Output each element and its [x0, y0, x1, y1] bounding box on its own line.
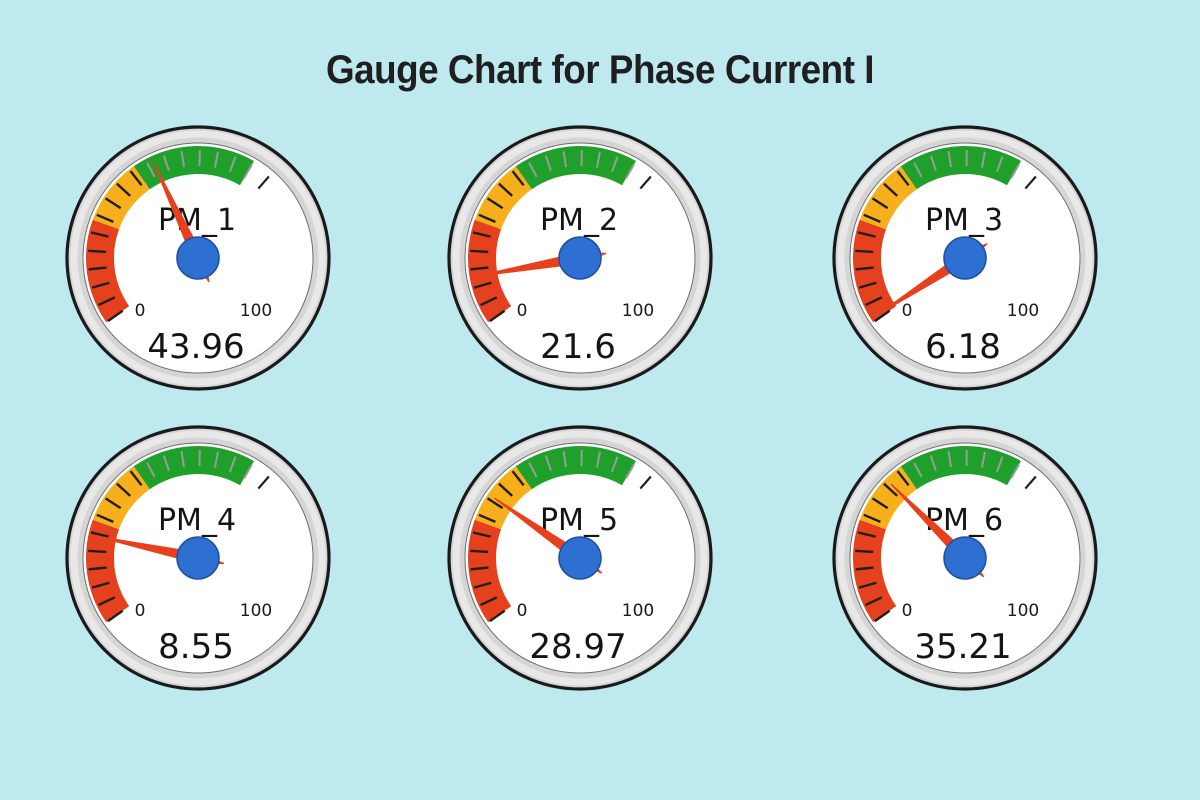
- gauge-name-label: PM_2: [540, 203, 618, 238]
- gauge-max-label: 100: [240, 301, 272, 321]
- gauge-value-label: 28.97: [529, 627, 626, 667]
- gauge-pm5[interactable]: 0100PM_528.97: [442, 420, 718, 696]
- gauge-tick: [88, 551, 106, 552]
- gauge-hub: [177, 537, 219, 579]
- gauge-max-label: 100: [1007, 301, 1039, 321]
- gauge-hub: [944, 537, 986, 579]
- gauge-pm3[interactable]: 0100PM_36.18: [827, 120, 1103, 396]
- gauge-value-label: 8.55: [158, 627, 234, 667]
- gauge-min-label: 0: [517, 601, 528, 621]
- gauge-value-label: 35.21: [914, 627, 1011, 667]
- chart-canvas: Gauge Chart for Phase Current I 0100PM_1…: [0, 0, 1200, 800]
- gauge-tick: [855, 251, 873, 252]
- gauge-min-label: 0: [517, 301, 528, 321]
- gauge-min-label: 0: [135, 601, 146, 621]
- gauge-value-label: 43.96: [147, 327, 244, 367]
- gauge-tick: [470, 251, 488, 252]
- gauge-value-label: 6.18: [925, 327, 1001, 367]
- gauge-tick: [470, 551, 488, 552]
- gauge-tick: [88, 251, 106, 252]
- gauge-tick: [855, 551, 873, 552]
- gauge-name-label: PM_5: [540, 503, 618, 538]
- gauge-max-label: 100: [240, 601, 272, 621]
- gauge-name-label: PM_4: [158, 503, 236, 538]
- gauge-max-label: 100: [622, 601, 654, 621]
- gauge-min-label: 0: [902, 601, 913, 621]
- gauge-hub: [944, 237, 986, 279]
- gauge-name-label: PM_3: [925, 203, 1003, 238]
- gauge-hub: [559, 537, 601, 579]
- gauge-value-label: 21.6: [540, 327, 616, 367]
- gauge-max-label: 100: [622, 301, 654, 321]
- gauge-name-label: PM_1: [158, 203, 236, 238]
- gauge-hub: [177, 237, 219, 279]
- gauge-max-label: 100: [1007, 601, 1039, 621]
- gauge-min-label: 0: [135, 301, 146, 321]
- gauge-pm1[interactable]: 0100PM_143.96: [60, 120, 336, 396]
- gauge-hub: [559, 237, 601, 279]
- gauge-grid: 0100PM_143.960100PM_221.60100PM_36.18010…: [0, 0, 1200, 800]
- gauge-pm6[interactable]: 0100PM_635.21: [827, 420, 1103, 696]
- gauge-pm4[interactable]: 0100PM_48.55: [60, 420, 336, 696]
- gauge-min-label: 0: [902, 301, 913, 321]
- gauge-pm2[interactable]: 0100PM_221.6: [442, 120, 718, 396]
